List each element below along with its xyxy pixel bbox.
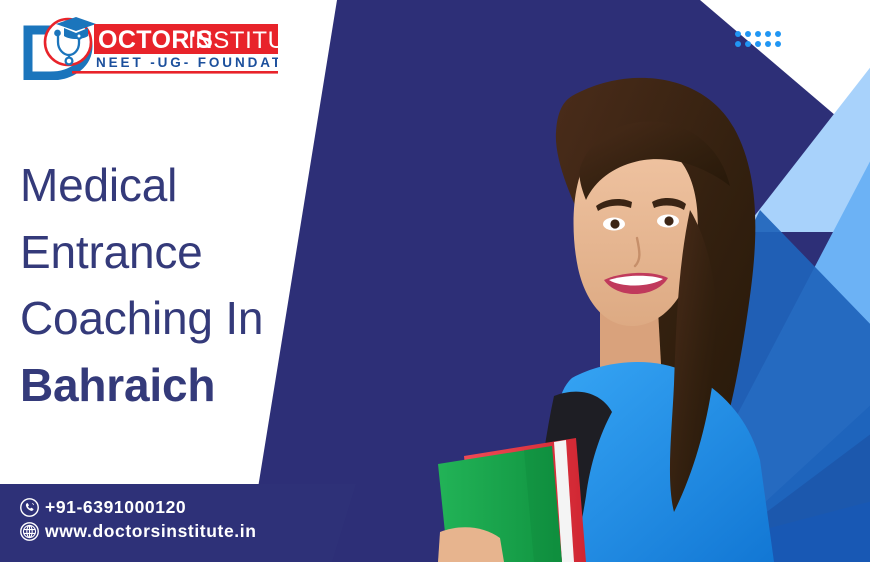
student-illustration [404, 60, 824, 562]
headline-line-3: Coaching In [20, 285, 360, 352]
phone-circle-icon [20, 498, 39, 517]
pupil-right [664, 216, 673, 225]
dot [735, 31, 741, 37]
dot [735, 41, 741, 47]
dot [755, 31, 761, 37]
logo-underline [72, 71, 278, 74]
contact-bar: +91-6391000120 www.doctorsinstitute.in [0, 484, 356, 562]
globe-icon [20, 522, 39, 541]
dot [775, 41, 781, 47]
dot [745, 41, 751, 47]
dot [765, 41, 771, 47]
dot [755, 41, 761, 47]
phone-number: +91-6391000120 [45, 497, 186, 518]
decorative-dot-grid [735, 31, 783, 49]
dot [765, 31, 771, 37]
contact-phone[interactable]: +91-6391000120 [20, 497, 257, 518]
brand-logo[interactable]: OCTOR'S INSTITUTE NEET -UG- FOUNDATION [16, 14, 278, 80]
contact-website[interactable]: www.doctorsinstitute.in [20, 521, 257, 542]
dot [745, 31, 751, 37]
headline-line-2: Entrance [20, 219, 360, 286]
logo-brand-text-2: INSTITUTE [188, 27, 278, 54]
right-edge-white-strip [870, 0, 876, 562]
pupil-left [610, 219, 619, 228]
headline-line-4-location: Bahraich [20, 352, 360, 419]
promo-banner: OCTOR'S INSTITUTE NEET -UG- FOUNDATION M… [0, 0, 876, 562]
dot [775, 31, 781, 37]
page-title: Medical Entrance Coaching In Bahraich [20, 152, 360, 419]
website-url: www.doctorsinstitute.in [45, 521, 257, 542]
headline-line-1: Medical [20, 152, 360, 219]
brand-logo-svg: OCTOR'S INSTITUTE NEET -UG- FOUNDATION [16, 14, 278, 80]
student-photo [404, 60, 824, 562]
logo-tagline: NEET -UG- FOUNDATION [96, 55, 278, 70]
